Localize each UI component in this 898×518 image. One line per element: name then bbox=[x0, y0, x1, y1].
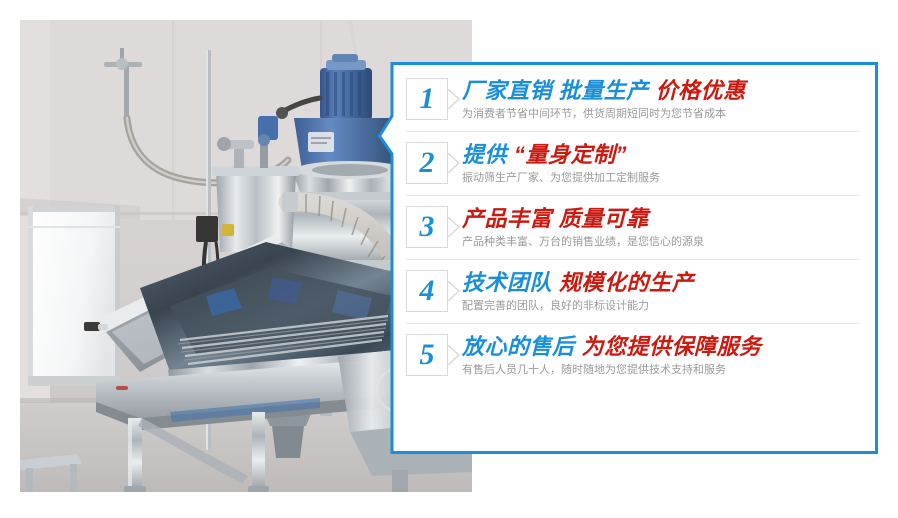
feature-title-blue: 技术团队 bbox=[462, 270, 552, 295]
feature-subtitle: 有售后人员几十人，随时随地为您提供技术支持和服务 bbox=[462, 363, 860, 378]
feature-number: 2 bbox=[407, 143, 447, 183]
feature-number-badge: 5 bbox=[406, 333, 458, 379]
feature-row[interactable]: 2 提供“量身定制” 振动筛生产厂家、为您提供加工定制服务 bbox=[406, 132, 860, 196]
feature-text: 技术团队规模化的生产 配置完善的团队，良好的非标设计能力 bbox=[462, 269, 860, 314]
feature-title: 放心的售后为您提供保障服务 bbox=[462, 333, 860, 361]
feature-number-box: 2 bbox=[406, 142, 448, 184]
feature-number: 1 bbox=[407, 79, 447, 119]
feature-title: 产品丰富 质量可靠 bbox=[462, 205, 860, 233]
feature-text: 提供“量身定制” 振动筛生产厂家、为您提供加工定制服务 bbox=[462, 141, 860, 186]
features-list: 1 厂家直销 批量生产价格优惠 为消费者节省中间环节，供货周期短同时为您节省成本 bbox=[404, 62, 878, 454]
feature-number-badge: 3 bbox=[406, 205, 458, 251]
feature-subtitle: 配置完善的团队，良好的非标设计能力 bbox=[462, 299, 860, 314]
feature-number: 3 bbox=[407, 207, 447, 247]
feature-number-box: 1 bbox=[406, 78, 448, 120]
feature-text: 放心的售后为您提供保障服务 有售后人员几十人，随时随地为您提供技术支持和服务 bbox=[462, 333, 860, 378]
feature-number: 4 bbox=[407, 271, 447, 311]
feature-title-blue: 厂家直销 批量生产 bbox=[462, 78, 649, 103]
feature-row[interactable]: 1 厂家直销 批量生产价格优惠 为消费者节省中间环节，供货周期短同时为您节省成本 bbox=[406, 68, 860, 132]
feature-row[interactable]: 5 放心的售后为您提供保障服务 有售后人员几十人，随时随地为您提供技术支持和服务 bbox=[406, 324, 860, 387]
feature-number-box: 5 bbox=[406, 334, 448, 376]
feature-number-badge: 2 bbox=[406, 141, 458, 187]
feature-number-box: 3 bbox=[406, 206, 448, 248]
feature-subtitle: 振动筛生产厂家、为您提供加工定制服务 bbox=[462, 171, 860, 186]
feature-title: 提供“量身定制” bbox=[462, 141, 860, 169]
feature-title-red: 产品丰富 质量可靠 bbox=[462, 206, 649, 231]
chevron-right-icon bbox=[448, 217, 460, 237]
promo-banner: 1 厂家直销 批量生产价格优惠 为消费者节省中间环节，供货周期短同时为您节省成本 bbox=[0, 0, 898, 518]
chevron-right-icon bbox=[448, 345, 460, 365]
feature-title: 技术团队规模化的生产 bbox=[462, 269, 860, 297]
feature-row[interactable]: 4 技术团队规模化的生产 配置完善的团队，良好的非标设计能力 bbox=[406, 260, 860, 324]
feature-title-red: “量身定制” bbox=[514, 142, 627, 167]
feature-title-red: 为您提供保障服务 bbox=[582, 334, 762, 359]
feature-title-blue: 放心的售后 bbox=[462, 334, 575, 359]
chevron-right-icon bbox=[448, 281, 460, 301]
feature-title-red: 价格优惠 bbox=[656, 78, 746, 103]
feature-number-badge: 4 bbox=[406, 269, 458, 315]
feature-title-blue: 提供 bbox=[462, 142, 507, 167]
feature-text: 产品丰富 质量可靠 产品种类丰富、万台的销售业绩，是您信心的源泉 bbox=[462, 205, 860, 250]
chevron-right-icon bbox=[448, 153, 460, 173]
feature-text: 厂家直销 批量生产价格优惠 为消费者节省中间环节，供货周期短同时为您节省成本 bbox=[462, 77, 860, 122]
feature-number: 5 bbox=[407, 335, 447, 375]
feature-title-red: 规模化的生产 bbox=[559, 270, 694, 295]
features-panel: 1 厂家直销 批量生产价格优惠 为消费者节省中间环节，供货周期短同时为您节省成本 bbox=[378, 62, 878, 454]
feature-number-badge: 1 bbox=[406, 77, 458, 123]
feature-subtitle: 产品种类丰富、万台的销售业绩，是您信心的源泉 bbox=[462, 235, 860, 250]
feature-row[interactable]: 3 产品丰富 质量可靠 产品种类丰富、万台的销售业绩，是您信心的源泉 bbox=[406, 196, 860, 260]
feature-title: 厂家直销 批量生产价格优惠 bbox=[462, 77, 860, 105]
feature-number-box: 4 bbox=[406, 270, 448, 312]
chevron-right-icon bbox=[448, 89, 460, 109]
feature-subtitle: 为消费者节省中间环节，供货周期短同时为您节省成本 bbox=[462, 107, 860, 122]
